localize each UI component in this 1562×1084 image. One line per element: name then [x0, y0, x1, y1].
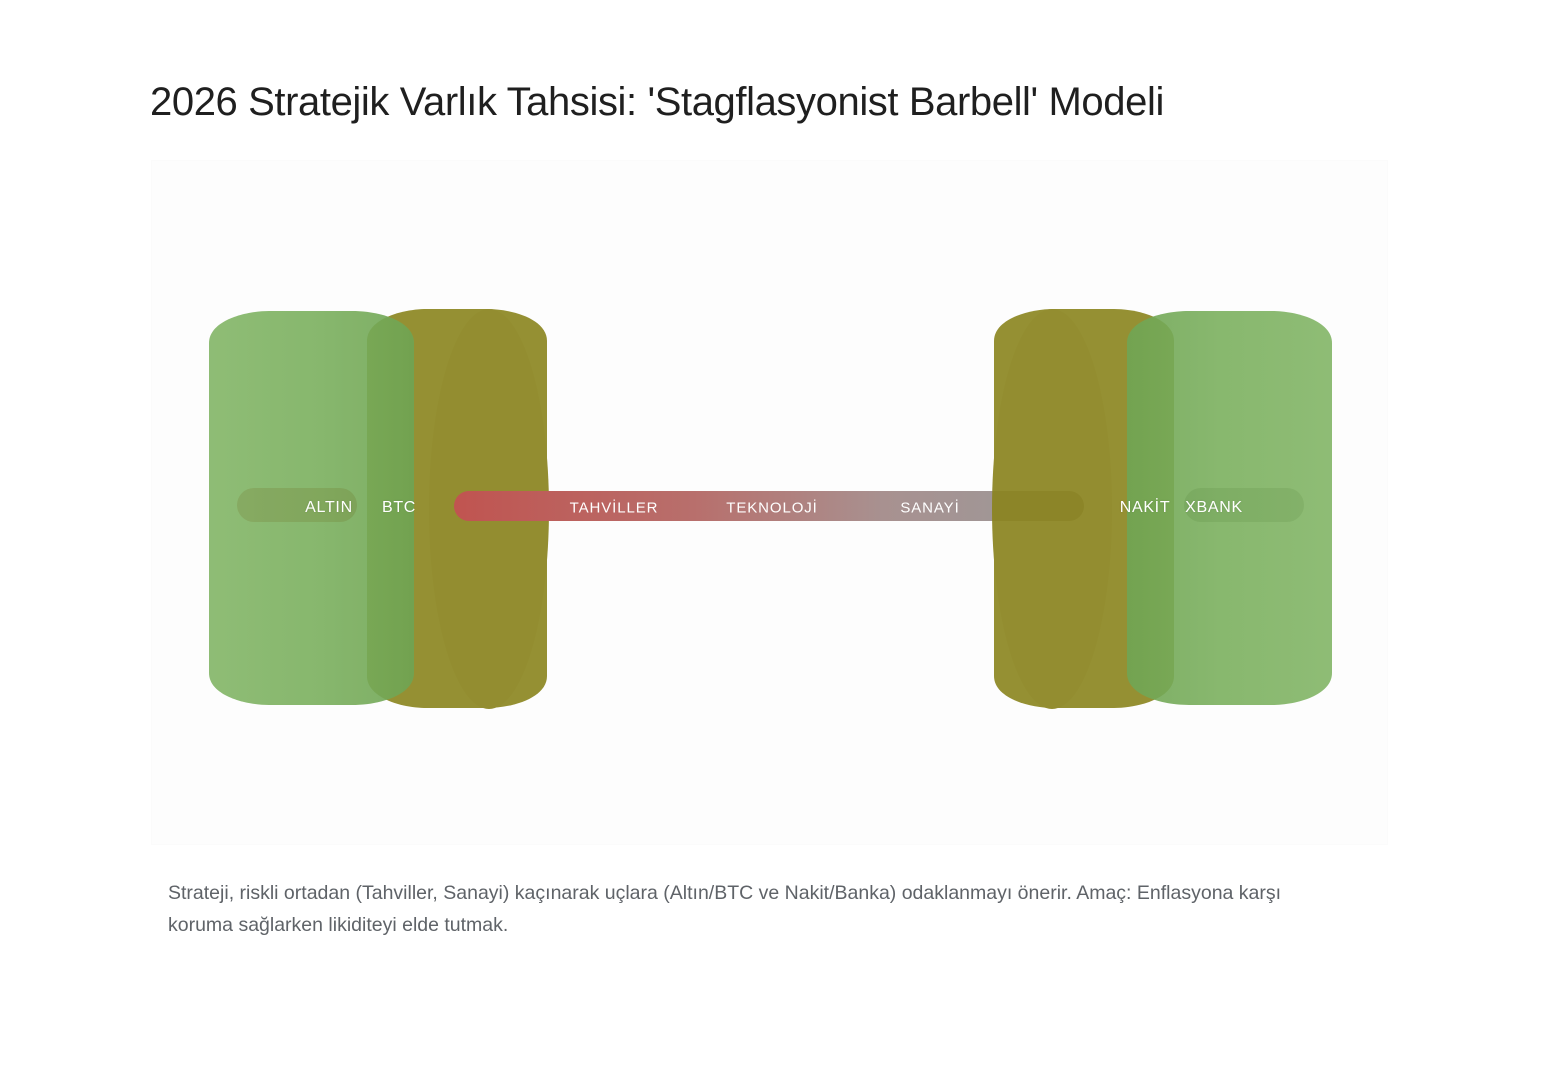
figure-caption: Strateji, riskli ortadan (Tahviller, San…	[168, 878, 1283, 941]
barbell-diagram: ALTIN BTC TAHVİLLER TEKNOLOJİ SANAYİ NAK…	[152, 161, 1387, 844]
barbell-svg	[152, 161, 1389, 846]
plate-xbank	[1127, 311, 1332, 705]
plate-altin	[209, 311, 414, 705]
page-title: 2026 Stratejik Varlık Tahsisi: 'Stagflas…	[150, 78, 1164, 126]
center-bar	[454, 491, 1084, 521]
chart-panel: ALTIN BTC TAHVİLLER TEKNOLOJİ SANAYİ NAK…	[151, 160, 1388, 845]
